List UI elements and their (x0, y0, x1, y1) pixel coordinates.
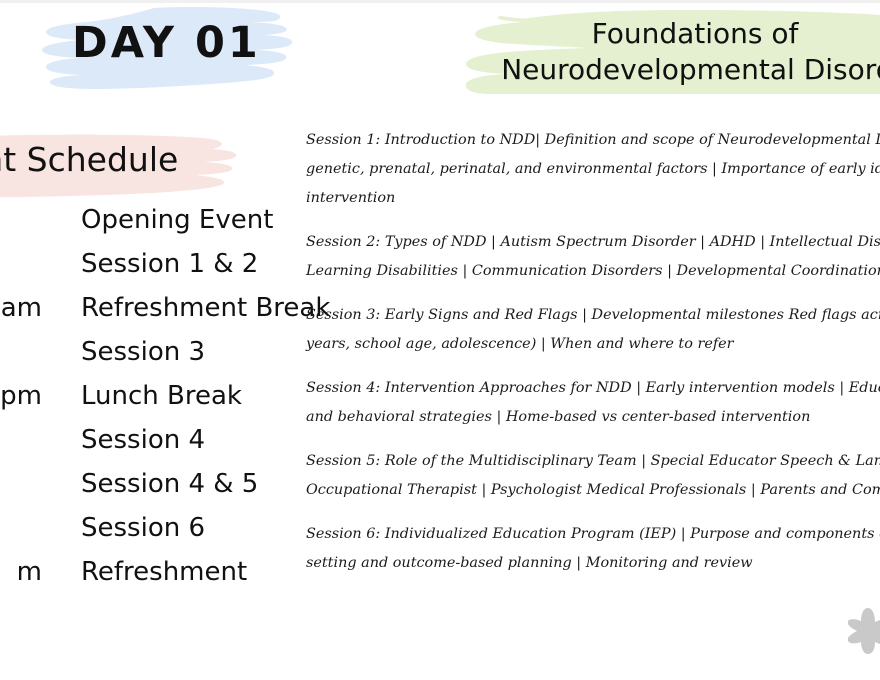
session-line: setting and outcome-based planning | Mon… (306, 549, 880, 578)
schedule-row: pm Lunch Break (0, 381, 300, 425)
session-line: years, school age, adolescence) | When a… (306, 330, 880, 359)
schedule-row-label: Lunch Break (81, 381, 242, 411)
slide-canvas: DAY 01 Foundations of Neurodevelopmental… (0, 0, 880, 680)
session-line: Session 5: Role of the Multidisciplinary… (306, 447, 880, 476)
schedule-row-label: Session 4 & 5 (81, 469, 258, 499)
schedule-row: Session 1 & 2 (0, 249, 300, 293)
session-line: Session 1: Introduction to NDD| Definiti… (306, 126, 880, 155)
schedule-row-time: m (0, 557, 42, 587)
header-title-line-2: Neurodevelopmental Disorde (482, 52, 880, 88)
session-block-4: Session 4: Intervention Approaches for N… (306, 374, 880, 432)
schedule-row: Opening Event (0, 205, 300, 249)
session-line: Session 2: Types of NDD | Autism Spectru… (306, 228, 880, 257)
header-title-line-1: Foundations of (460, 16, 880, 52)
session-line: Occupational Therapist | Psychologist Me… (306, 476, 880, 505)
schedule-row-label: Session 3 (81, 337, 205, 367)
session-block-6: Session 6: Individualized Education Prog… (306, 520, 880, 578)
session-line: Session 6: Individualized Education Prog… (306, 520, 880, 549)
schedule-row: am Refreshment Break (0, 293, 300, 337)
header-title: Foundations of Neurodevelopmental Disord… (460, 16, 880, 88)
schedule-row-label: Opening Event (81, 205, 273, 235)
session-line: Session 3: Early Signs and Red Flags | D… (306, 301, 880, 330)
schedule-row: Session 6 (0, 513, 300, 557)
session-block-1: Session 1: Introduction to NDD| Definiti… (306, 126, 880, 213)
session-line: intervention (306, 184, 880, 213)
session-block-2: Session 2: Types of NDD | Autism Spectru… (306, 228, 880, 286)
session-block-5: Session 5: Role of the Multidisciplinary… (306, 447, 880, 505)
schedule-row: m Refreshment (0, 557, 300, 601)
schedule-row-label: Session 4 (81, 425, 205, 455)
schedule-heading: ent Schedule (0, 140, 178, 179)
schedule-row-label: Session 1 & 2 (81, 249, 258, 279)
schedule-row: Session 4 (0, 425, 300, 469)
schedule-list: Opening Event Session 1 & 2 am Refreshme… (0, 205, 300, 601)
session-line: Learning Disabilities | Communication Di… (306, 257, 880, 286)
session-descriptions: Session 1: Introduction to NDD| Definiti… (306, 126, 880, 593)
schedule-row-label: Refreshment (81, 557, 247, 587)
session-line: Session 4: Intervention Approaches for N… (306, 374, 880, 403)
schedule-row: Session 4 & 5 (0, 469, 300, 513)
schedule-row-time: pm (0, 381, 42, 411)
top-edge-strip (0, 0, 880, 3)
day-title: DAY 01 (72, 18, 261, 68)
session-line: genetic, prenatal, perinatal, and enviro… (306, 155, 880, 184)
schedule-row-label: Session 6 (81, 513, 205, 543)
session-line: and behavioral strategies | Home-based v… (306, 403, 880, 432)
schedule-row-label: Refreshment Break (81, 293, 330, 323)
four-point-sparkle-icon (848, 608, 880, 659)
session-block-3: Session 3: Early Signs and Red Flags | D… (306, 301, 880, 359)
schedule-row-time: am (0, 293, 42, 323)
schedule-row: Session 3 (0, 337, 300, 381)
